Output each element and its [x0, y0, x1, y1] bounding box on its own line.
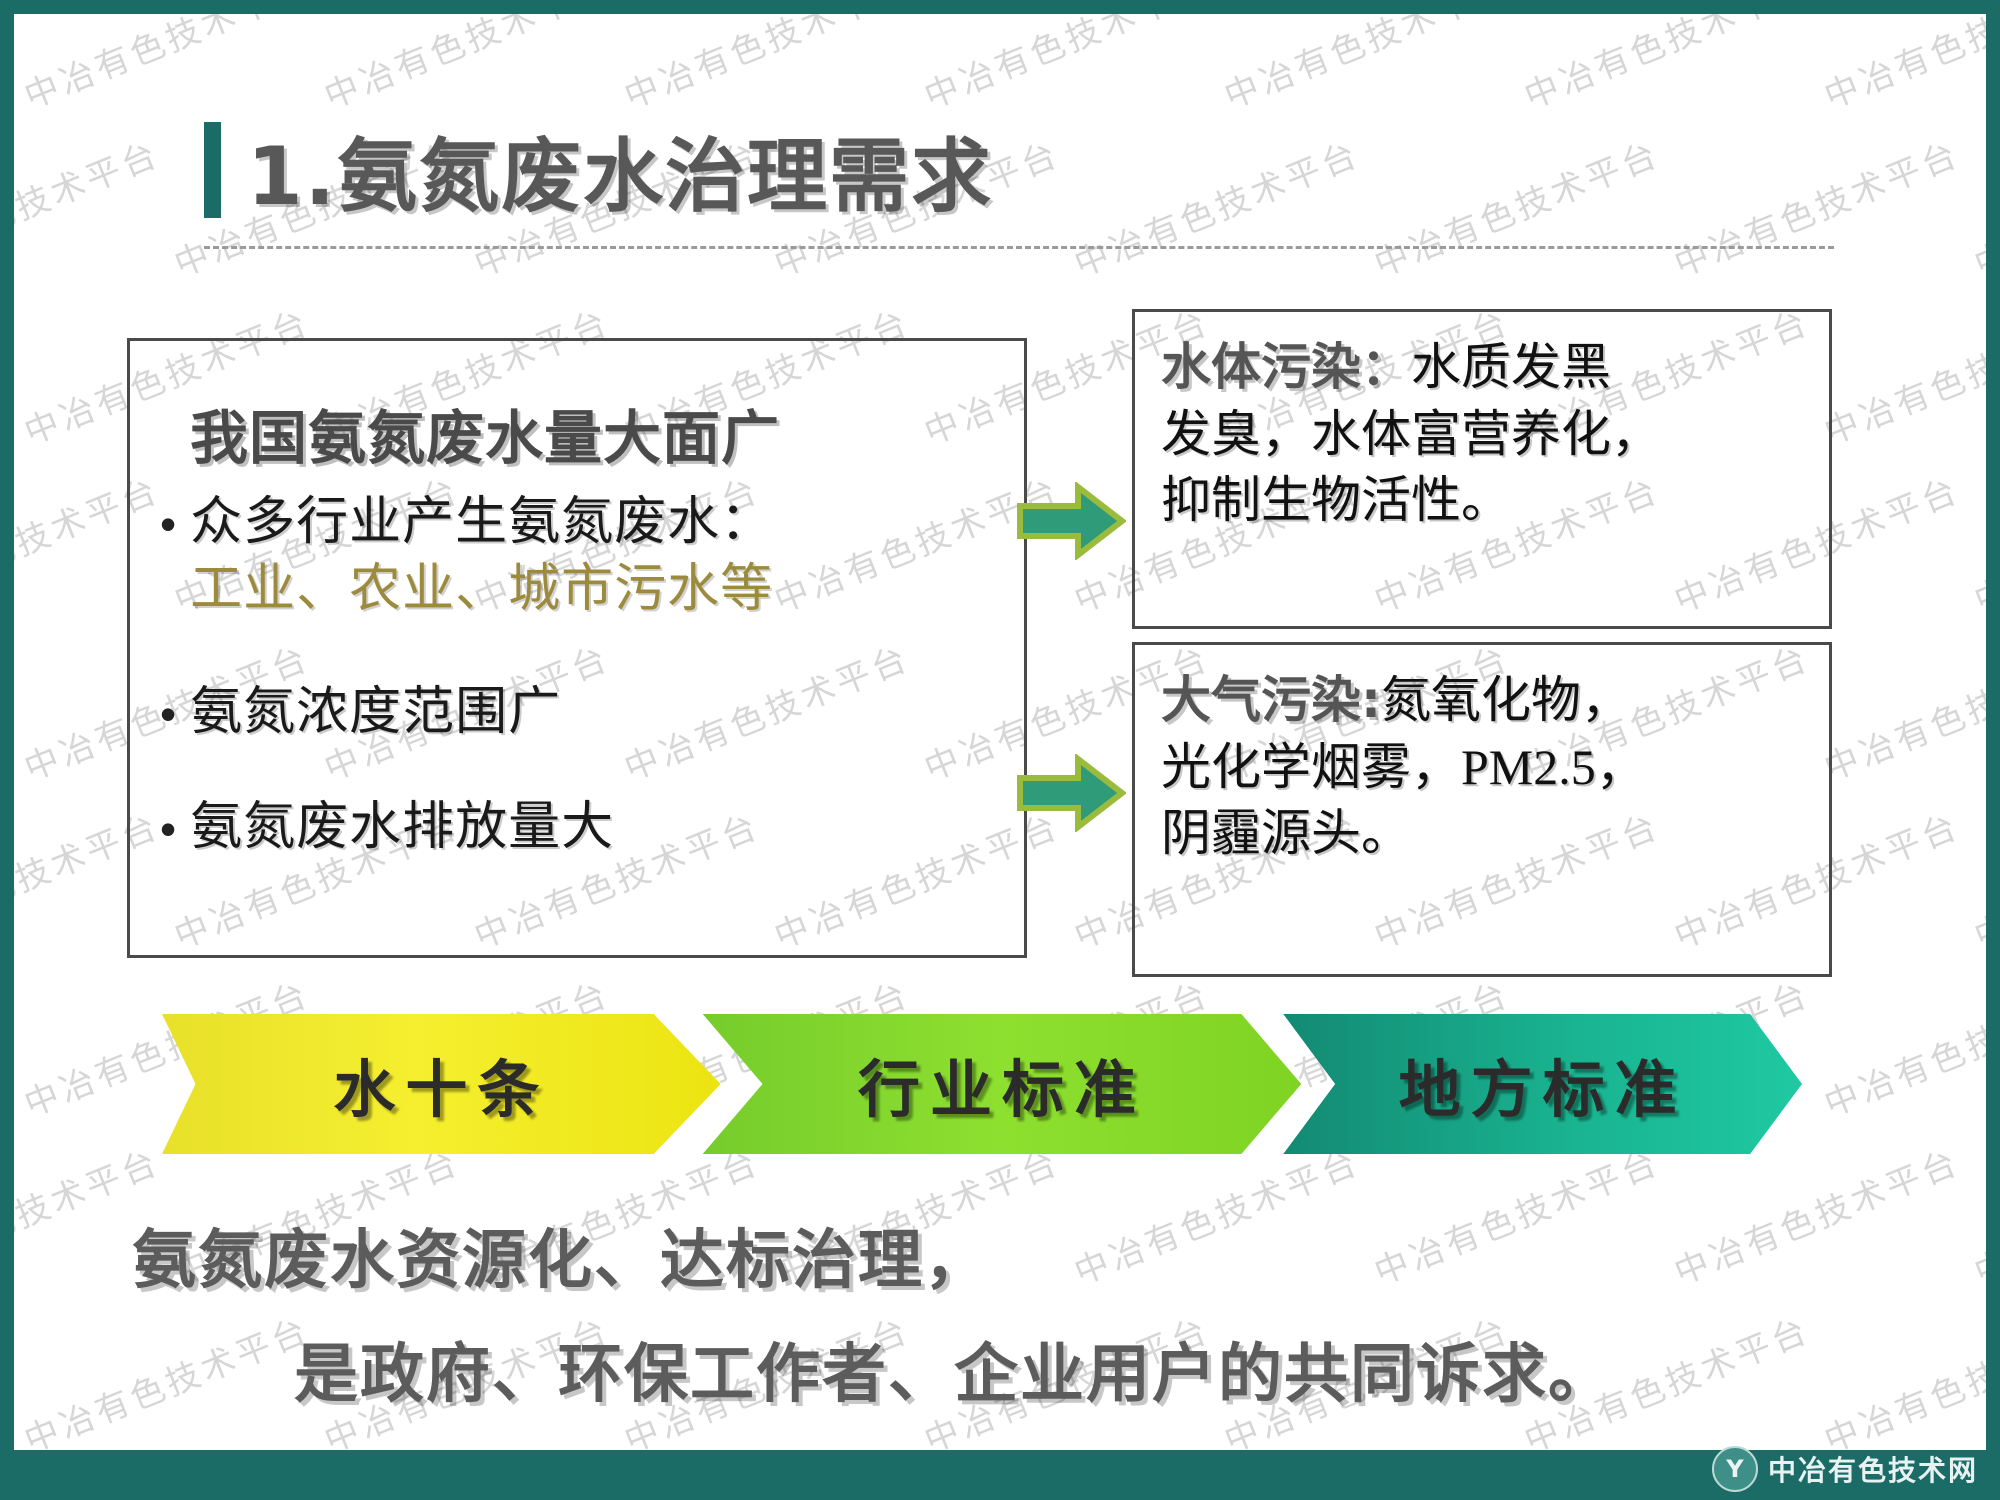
left-box-heading: 我国氨氮废水量大面广	[190, 391, 780, 475]
left-info-box: 我国氨氮废水量大面广 • 众多行业产生氨氮废水： 工业、农业、城市污水等 • 氨…	[127, 338, 1027, 958]
title-label: 1.氨氮废水治理需求	[247, 112, 993, 228]
watermark-text: 中冶有色技术平台	[1366, 127, 1666, 286]
watermark-text: 中冶有色技术平台	[14, 631, 16, 790]
watermark-text: 中冶有色技术平台	[1966, 799, 1986, 958]
bullet-dot-icon: •	[160, 501, 176, 547]
chevron-local-standard[interactable]: 地方标准	[1283, 1014, 1802, 1154]
bullet-dot-icon: •	[160, 691, 176, 737]
air-pollution-line-3: 阴霾源头。	[1161, 800, 1803, 867]
arrow-to-water-pollution-icon	[1016, 482, 1126, 560]
watermark-text: 中冶有色技术平台	[14, 295, 16, 454]
watermark-text: 中冶有色技术平台	[1966, 127, 1986, 286]
list-item: • 氨氮浓度范围广	[160, 681, 561, 744]
bullet-main-text: 众多行业产生氨氮废水：	[190, 494, 773, 551]
bullet-main-text: 氨氮浓度范围广	[190, 681, 561, 744]
water-pollution-line-1: 水体污染：水质发黑	[1161, 334, 1803, 401]
bullet-dot-icon: •	[160, 806, 176, 852]
site-logo[interactable]: Y 中冶有色技术网	[1712, 1446, 1978, 1492]
slide-canvas: 中冶有色技术平台中冶有色技术平台中冶有色技术平台中冶有色技术平台中冶有色技术平台…	[14, 14, 1986, 1450]
title-accent-bar	[204, 122, 221, 218]
water-pollution-text-1: 水质发黑	[1411, 339, 1611, 395]
air-pollution-line-1: 大气污染:氮氧化物，	[1161, 667, 1803, 734]
chevron-industry-standard[interactable]: 行业标准	[703, 1014, 1302, 1154]
watermark-text: 中冶有色技术平台	[14, 14, 16, 118]
watermark-text: 中冶有色技术平台	[1816, 631, 1986, 790]
water-pollution-line-3: 抑制生物活性。	[1161, 467, 1803, 534]
bullet-sub-text: 工业、农业、城市污水等	[190, 558, 773, 621]
watermark-text: 中冶有色技术平台	[16, 14, 316, 118]
chevron-water-ten-label: 水十条	[333, 1039, 549, 1129]
standards-chevron-banner: 水十条 行业标准 地方标准	[162, 1014, 1802, 1154]
watermark-text: 中冶有色技术平台	[1066, 127, 1366, 286]
watermark-text: 中冶有色技术平台	[1816, 295, 1986, 454]
watermark-text: 中冶有色技术平台	[1966, 463, 1986, 622]
air-pollution-label: 大气污染:	[1161, 671, 1381, 729]
watermark-text: 中冶有色技术平台	[616, 14, 916, 118]
water-pollution-line-2: 发臭，水体富营养化，	[1161, 401, 1803, 468]
watermark-text: 中冶有色技术平台	[1816, 967, 1986, 1126]
air-pollution-box: 大气污染:氮氧化物， 光化学烟雾，PM2.5， 阴霾源头。	[1132, 642, 1832, 977]
water-pollution-box: 水体污染：水质发黑 发臭，水体富营养化， 抑制生物活性。	[1132, 309, 1832, 629]
chevron-industry-standard-label: 行业标准	[858, 1039, 1146, 1129]
globe-icon: Y	[1712, 1446, 1758, 1492]
watermark-text: 中冶有色技术平台	[14, 967, 16, 1126]
watermark-text: 中冶有色技术平台	[316, 14, 616, 118]
bullet-main-text: 氨氮废水排放量大	[190, 796, 614, 859]
air-pollution-line-2: 光化学烟雾，PM2.5，	[1161, 734, 1803, 801]
watermark-text: 中冶有色技术平台	[1816, 14, 1986, 118]
list-item: • 氨氮废水排放量大	[160, 796, 614, 859]
air-pollution-text-1: 氮氧化物，	[1381, 672, 1631, 728]
watermark-text: 中冶有色技术平台	[1666, 127, 1966, 286]
conclusion-block: 氨氮废水资源化、达标治理， 是政府、环保工作者、企业用户的共同诉求。	[14, 1209, 1986, 1415]
arrow-to-air-pollution-icon	[1016, 754, 1126, 832]
conclusion-line-2: 是政府、环保工作者、企业用户的共同诉求。	[294, 1323, 1986, 1415]
site-logo-label: 中冶有色技术网	[1768, 1449, 1978, 1489]
chevron-local-standard-label: 地方标准	[1399, 1039, 1687, 1129]
conclusion-line-1: 氨氮废水资源化、达标治理，	[132, 1209, 1986, 1301]
watermark-text: 中冶有色技术平台	[14, 127, 166, 286]
water-pollution-label: 水体污染：	[1161, 338, 1411, 396]
watermark-text: 中冶有色技术平台	[1216, 14, 1516, 118]
page-title: 1.氨氮废水治理需求	[204, 112, 993, 228]
watermark-text: 中冶有色技术平台	[916, 14, 1216, 118]
chevron-water-ten[interactable]: 水十条	[162, 1014, 721, 1154]
bullet-text-wrap: 众多行业产生氨氮废水： 工业、农业、城市污水等	[190, 491, 773, 622]
title-divider	[204, 246, 1834, 249]
list-item: • 众多行业产生氨氮废水： 工业、农业、城市污水等	[160, 491, 773, 622]
watermark-text: 中冶有色技术平台	[1516, 14, 1816, 118]
